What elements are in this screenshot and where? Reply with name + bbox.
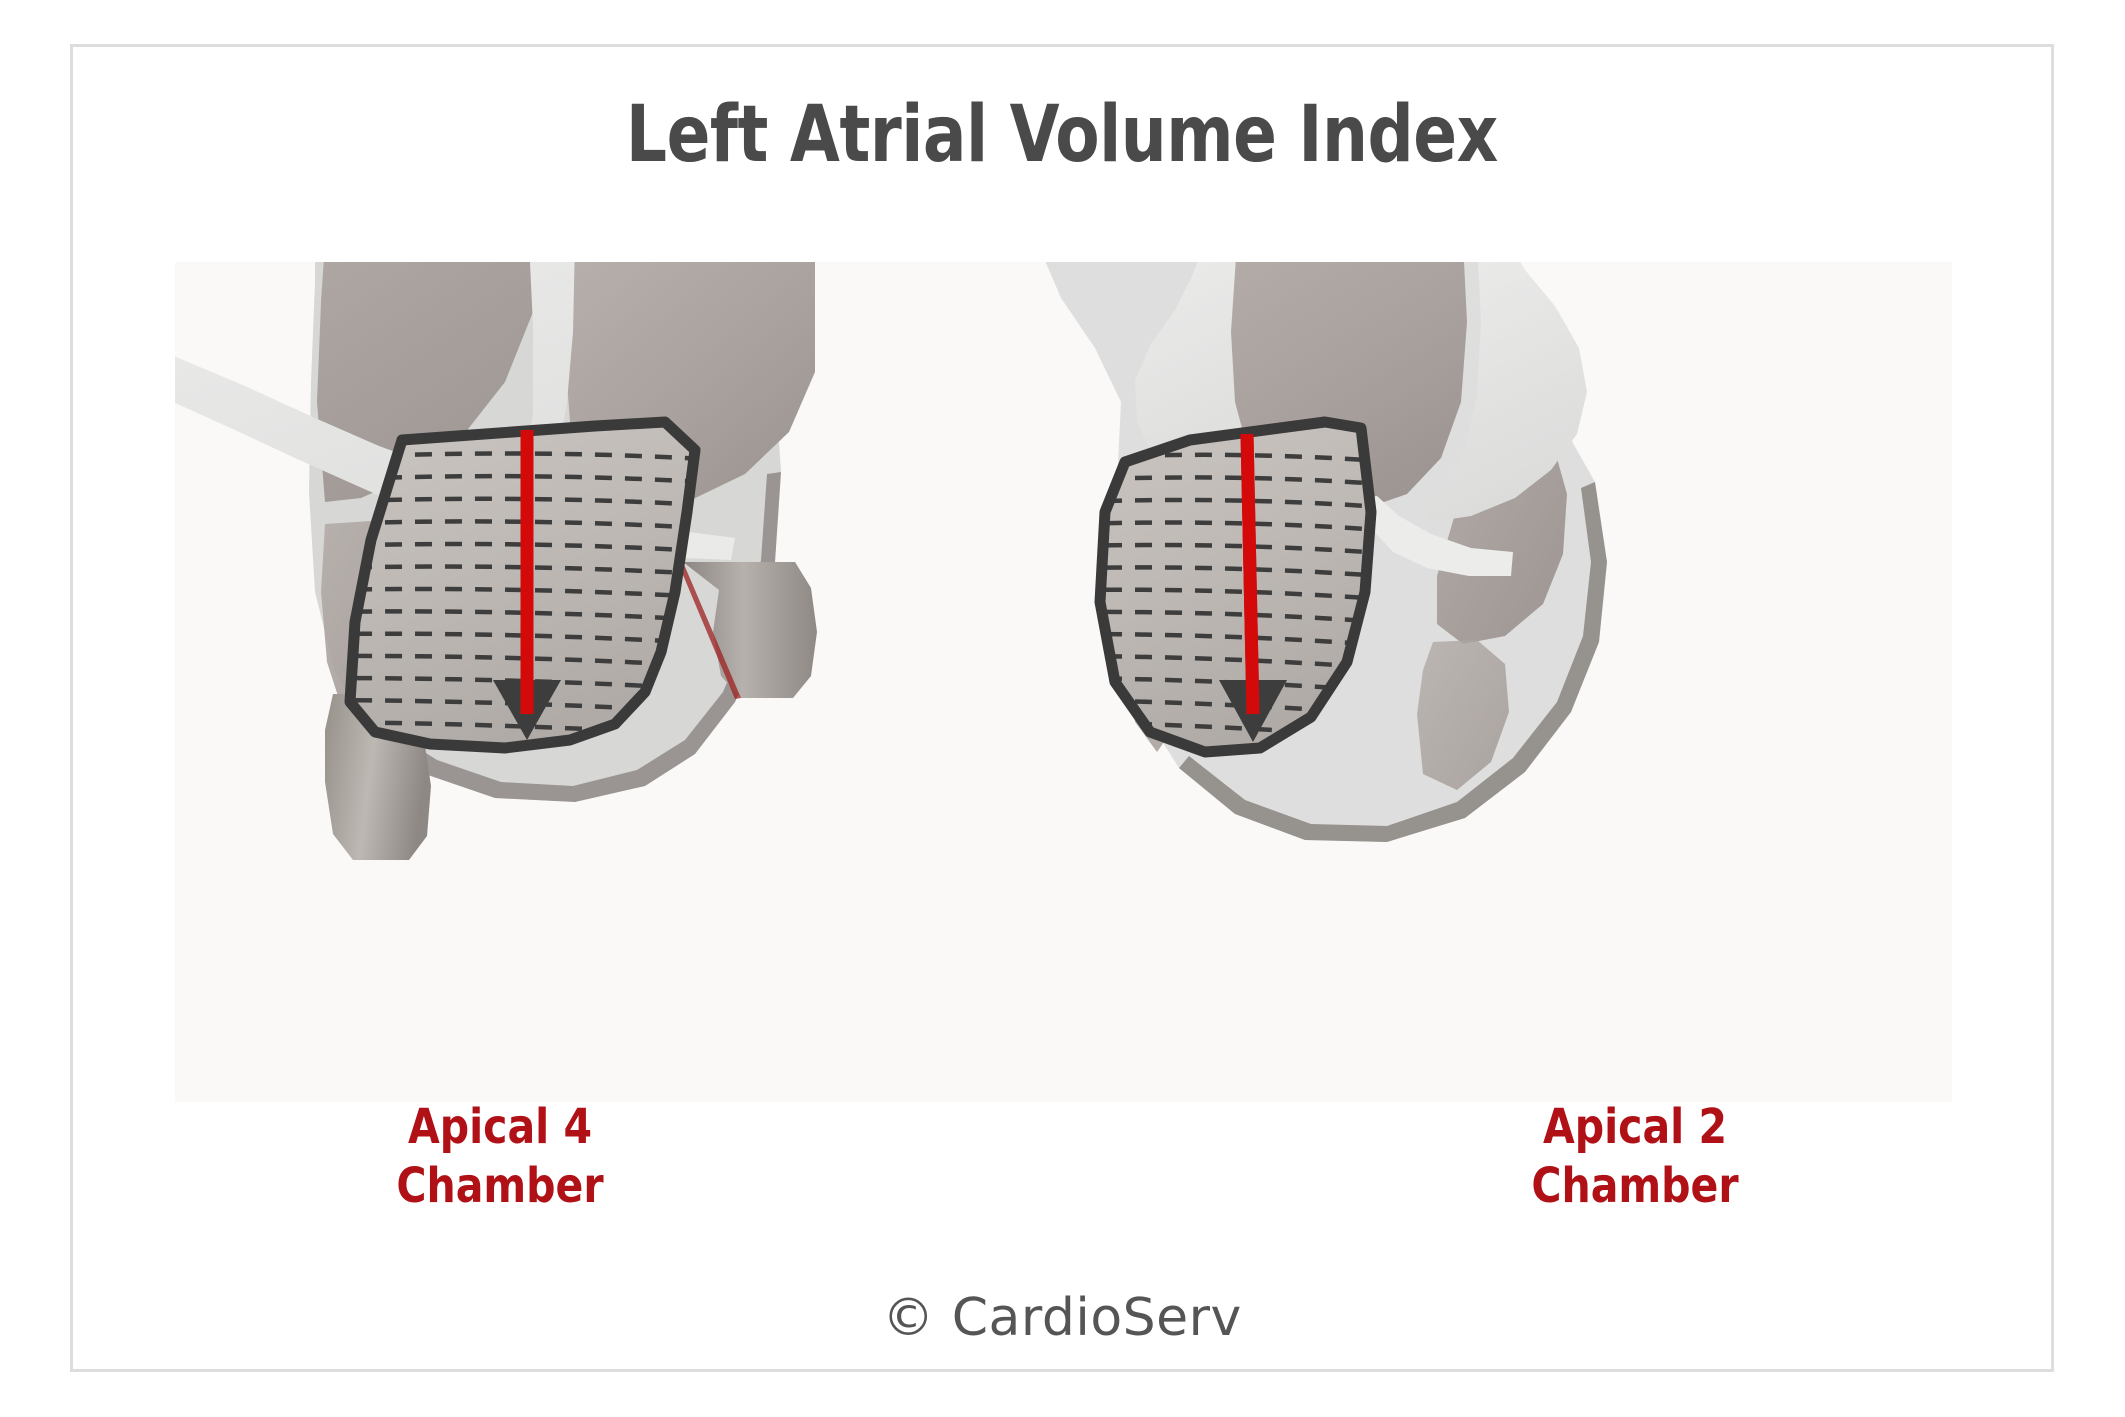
figure-root: Left Atrial Volume Index (0, 0, 2125, 1417)
apical-2-chamber-illustration (1037, 262, 1607, 842)
copyright-credit: © CardioServ (70, 1288, 2054, 1348)
title-bar: Left Atrial Volume Index (70, 96, 2054, 174)
page-title: Left Atrial Volume Index (626, 96, 1498, 174)
heart-views-illustration (175, 262, 1952, 1102)
caption-apical-2-chamber: Apical 2 Chamber (1445, 1098, 1825, 1216)
apical-4-chamber-illustration (175, 262, 817, 860)
caption-apical-4-chamber: Apical 4 Chamber (310, 1098, 690, 1216)
illustration-panel (175, 262, 1952, 1102)
